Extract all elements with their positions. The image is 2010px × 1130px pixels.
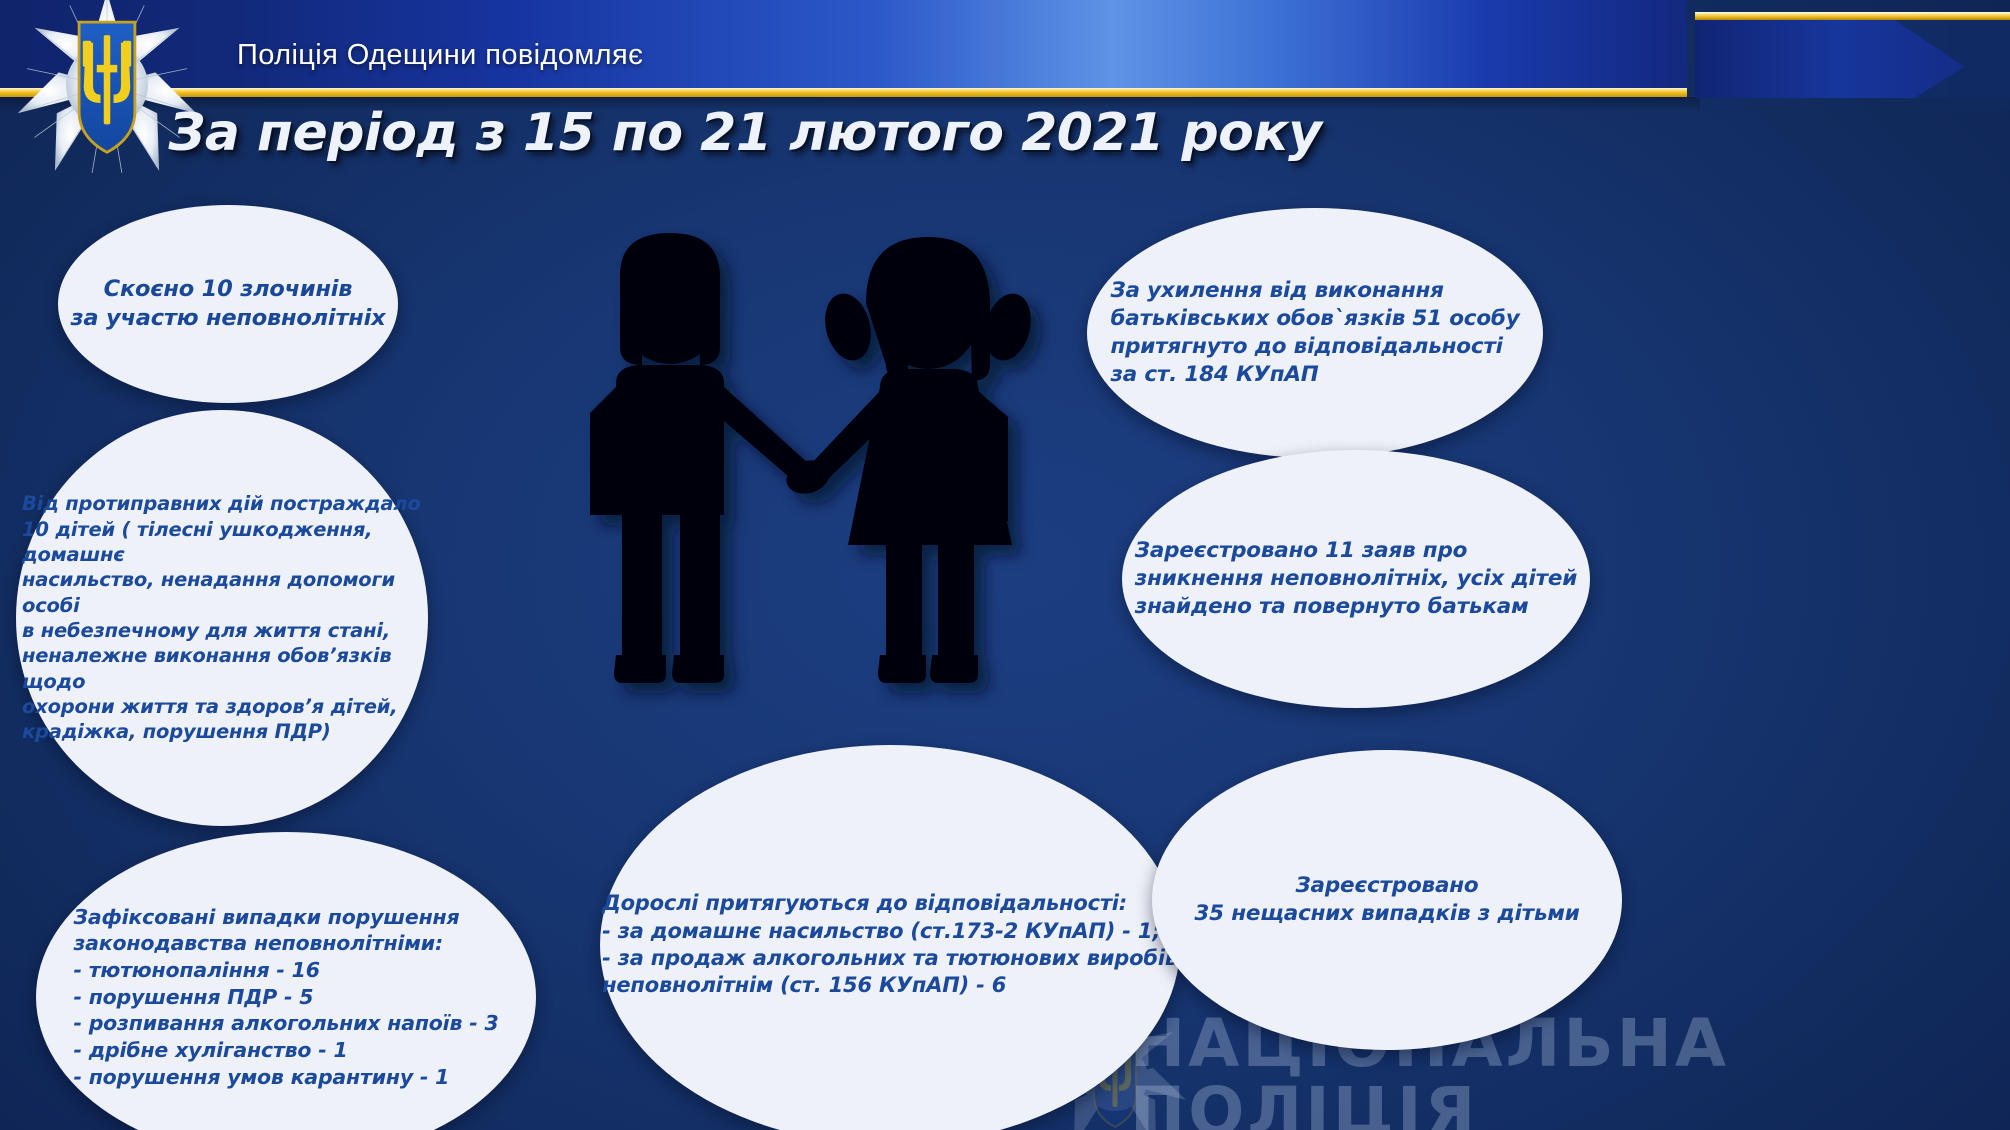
stat-bubble-missing-children: Зареєстровано 11 заяв про зникнення непо… <box>1122 450 1590 708</box>
stat-bubble-parental-duties-text: За ухилення від виконання батьківських о… <box>1110 277 1519 389</box>
stat-bubble-adult-liability: Дорослі притягуються до відповідальності… <box>600 745 1180 1130</box>
stat-bubble-adult-liability-text: Дорослі притягуються до відповідальності… <box>602 890 1178 999</box>
stat-bubble-victims-text: Від протиправних дій постраждало 10 діте… <box>16 491 428 744</box>
stat-bubble-crimes: Скоєно 10 злочинів за участю неповнолітн… <box>58 205 398 403</box>
stat-bubble-crimes-text: Скоєно 10 злочинів за участю неповнолітн… <box>71 275 386 334</box>
stat-bubble-victims: Від протиправних дій постраждало 10 діте… <box>16 410 428 826</box>
stat-bubble-accidents: Зареєстровано 35 нещасних випадків з діт… <box>1152 750 1622 1050</box>
infographic-poster: Поліція Одещини повідомляє <box>0 0 2010 1130</box>
stat-bubble-parental-duties: За ухилення від виконання батьківських о… <box>1087 208 1543 458</box>
stat-bubble-missing-children-text: Зареєстровано 11 заяв про зникнення непо… <box>1135 537 1577 621</box>
stat-bubbles-layer: Скоєно 10 злочинів за участю неповнолітн… <box>0 0 2010 1130</box>
stat-bubble-minor-violations-text: Зафіксовані випадки порушення законодавс… <box>73 904 498 1090</box>
stat-bubble-accidents-text: Зареєстровано 35 нещасних випадків з діт… <box>1194 872 1579 928</box>
stat-bubble-minor-violations: Зафіксовані випадки порушення законодавс… <box>36 832 536 1130</box>
